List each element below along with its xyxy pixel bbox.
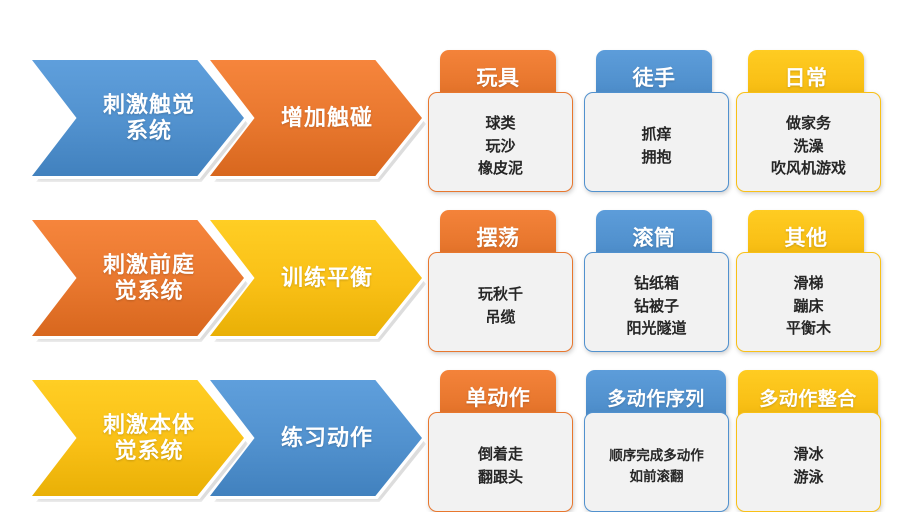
card-item: 钻被子 [634,296,679,319]
card-item: 倒着走 [478,444,523,467]
flow-row-3: 刺激本体 觉系统练习动作单动作倒着走翻跟头多动作序列顺序完成多动作如前滚翻多动作… [0,362,900,512]
chevron-arrow-label: 练习动作 [255,425,377,451]
card-item: 吹风机游戏 [771,158,846,181]
chevron-arrow-label: 训练平衡 [255,265,377,291]
card-body-3-2: 顺序完成多动作如前滚翻 [584,412,729,512]
category-card-1-1[interactable]: 玩具球类玩沙橡皮泥 [428,50,573,192]
card-group-2: 摆荡玩秋千吊缆滚筒钻纸箱钻被子阳光隧道其他滑梯蹦床平衡木 [428,202,894,362]
chevron-arrow-label: 刺激本体 觉系统 [77,412,199,464]
card-item: 洗澡 [793,136,823,159]
flow-row-2: 刺激前庭 觉系统训练平衡摆荡玩秋千吊缆滚筒钻纸箱钻被子阳光隧道其他滑梯蹦床平衡木 [0,202,900,362]
card-body-1-1: 球类玩沙橡皮泥 [428,92,573,192]
category-card-3-1[interactable]: 单动作倒着走翻跟头 [428,370,573,512]
card-body-2-1: 玩秋千吊缆 [428,252,573,352]
card-item: 球类 [485,113,515,136]
card-body-3-3: 滑冰游泳 [736,412,881,512]
card-item: 平衡木 [786,318,831,341]
arrow-group-3: 刺激本体 觉系统练习动作 [32,380,422,500]
card-item: 游泳 [793,467,823,490]
flow-row-1: 刺激触觉 系统增加触碰玩具球类玩沙橡皮泥徒手抓痒拥抱日常做家务洗澡吹风机游戏 [0,42,900,202]
arrow-group-2: 刺激前庭 觉系统训练平衡 [32,220,422,340]
card-item: 阳光隧道 [626,318,686,341]
card-body-3-1: 倒着走翻跟头 [428,412,573,512]
card-item: 拥抱 [641,147,671,170]
card-item: 钻纸箱 [634,273,679,296]
card-item: 滑梯 [793,273,823,296]
card-item: 抓痒 [641,124,671,147]
card-item: 蹦床 [793,296,823,319]
category-card-1-3[interactable]: 日常做家务洗澡吹风机游戏 [736,50,881,192]
card-item: 玩沙 [485,136,515,159]
category-card-3-3[interactable]: 多动作整合滑冰游泳 [736,370,881,512]
category-card-1-2[interactable]: 徒手抓痒拥抱 [584,50,729,192]
category-card-2-3[interactable]: 其他滑梯蹦床平衡木 [736,210,881,352]
chevron-arrow-label: 刺激前庭 觉系统 [77,252,199,304]
card-group-3: 单动作倒着走翻跟头多动作序列顺序完成多动作如前滚翻多动作整合滑冰游泳 [428,362,894,512]
card-item: 吊缆 [485,307,515,330]
card-item: 翻跟头 [478,467,523,490]
sensory-integration-infographic: 刺激触觉 系统增加触碰玩具球类玩沙橡皮泥徒手抓痒拥抱日常做家务洗澡吹风机游戏刺激… [0,0,900,512]
card-item: 玩秋千 [478,284,523,307]
card-item: 滑冰 [793,444,823,467]
category-card-2-2[interactable]: 滚筒钻纸箱钻被子阳光隧道 [584,210,729,352]
card-body-2-2: 钻纸箱钻被子阳光隧道 [584,252,729,352]
chevron-arrow-label: 刺激触觉 系统 [77,92,199,144]
card-group-1: 玩具球类玩沙橡皮泥徒手抓痒拥抱日常做家务洗澡吹风机游戏 [428,42,894,202]
category-card-3-2[interactable]: 多动作序列顺序完成多动作如前滚翻 [584,370,729,512]
arrow-group-1: 刺激触觉 系统增加触碰 [32,60,422,180]
card-body-1-3: 做家务洗澡吹风机游戏 [736,92,881,192]
category-card-2-1[interactable]: 摆荡玩秋千吊缆 [428,210,573,352]
chevron-arrow-label: 增加触碰 [255,105,377,131]
card-item: 橡皮泥 [478,158,523,181]
card-body-2-3: 滑梯蹦床平衡木 [736,252,881,352]
card-item: 顺序完成多动作 [609,446,704,467]
card-body-1-2: 抓痒拥抱 [584,92,729,192]
card-item: 如前滚翻 [630,467,684,488]
card-item: 做家务 [786,113,831,136]
